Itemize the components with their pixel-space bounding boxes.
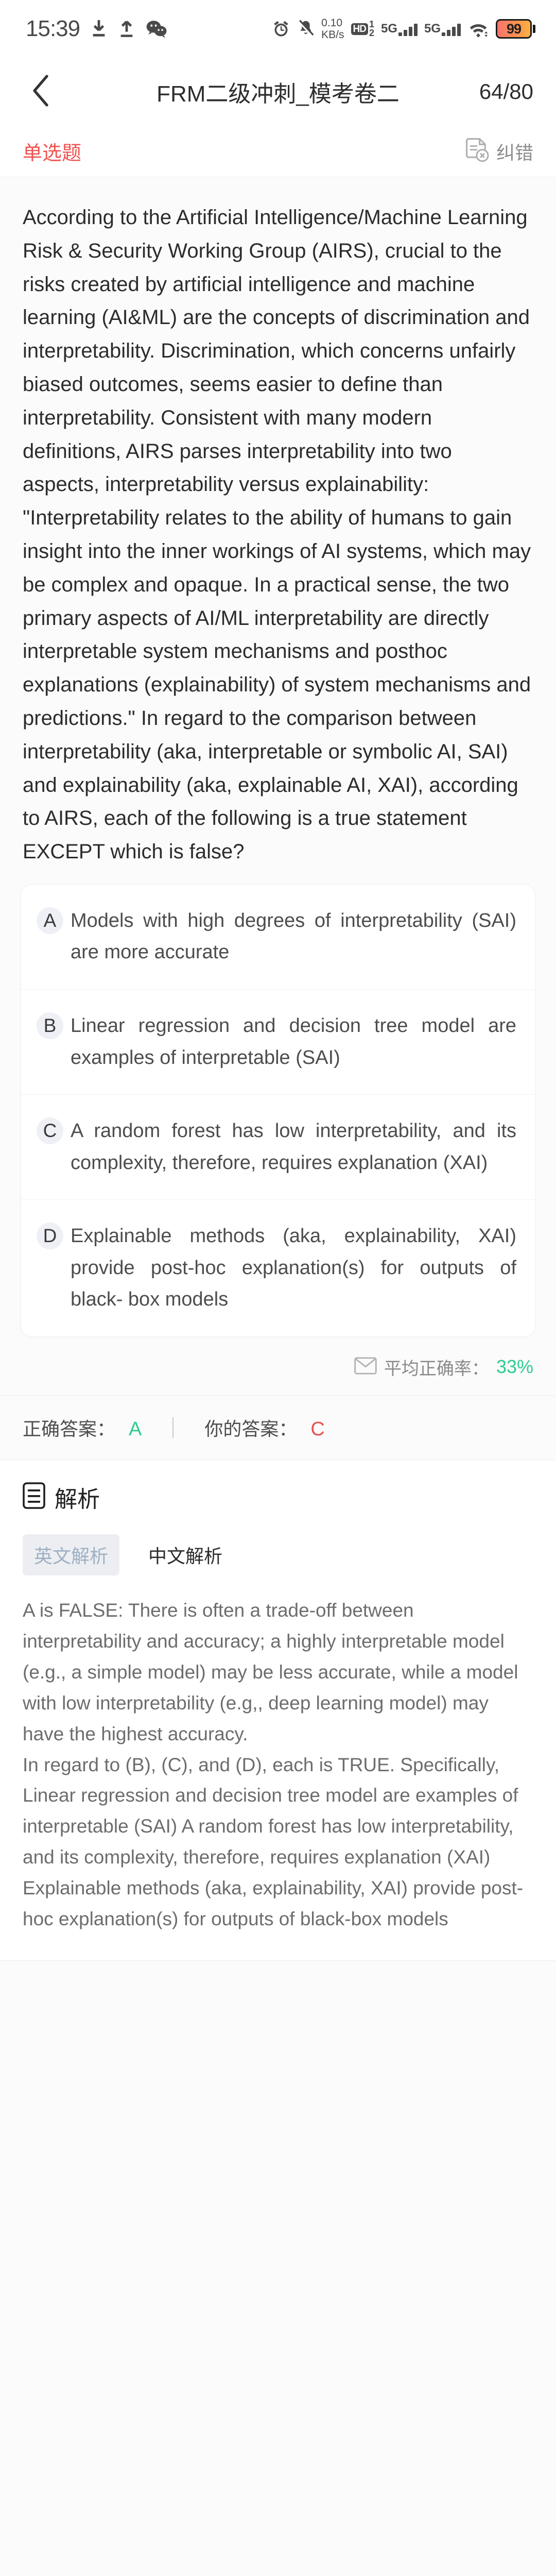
network-speed-value: 0.10: [321, 17, 342, 29]
option-letter-badge: B: [37, 1012, 63, 1039]
option-b[interactable]: BLinear regression and decision tree mod…: [21, 990, 535, 1095]
wifi-icon: [467, 20, 489, 38]
status-bar-left: 15:39: [26, 16, 167, 42]
app-header: FRM二级冲刺_模考卷二 64/80: [0, 58, 556, 126]
chevron-left-icon: [30, 74, 51, 110]
bottom-filler: [0, 1961, 556, 2576]
analysis-section: 解析 英文解析 中文解析 A is FALSE: There is often …: [0, 1460, 556, 1960]
question-type-label: 单选题: [23, 137, 81, 165]
option-text: Models with high degrees of interpretabi…: [71, 905, 516, 969]
battery-percent: 99: [507, 21, 521, 37]
option-c[interactable]: CA random forest has low interpretabilit…: [21, 1095, 535, 1200]
envelope-icon: [354, 1357, 377, 1377]
back-button[interactable]: [23, 74, 59, 110]
analysis-body-text: A is FALSE: There is often a trade-off b…: [23, 1595, 533, 1935]
correct-answer-label: 正确答案：: [23, 1414, 115, 1441]
options-section: AModels with high degrees of interpretab…: [0, 874, 556, 1337]
signal-sim1-icon: 5G: [381, 22, 418, 36]
download-arrow-icon: [90, 19, 108, 39]
answer-divider: [172, 1417, 173, 1438]
question-counter: 64/80: [479, 79, 533, 104]
battery-icon: 99: [496, 19, 535, 39]
analysis-title: 解析: [55, 1481, 100, 1514]
network-speed-unit: KB/s: [321, 29, 344, 41]
average-accuracy-label: 平均正确率：: [384, 1354, 489, 1380]
alarm-clock-icon: [272, 20, 290, 38]
hd-label: HD: [351, 23, 368, 35]
options-card: AModels with high degrees of interpretab…: [21, 884, 535, 1337]
option-letter-badge: D: [37, 1223, 63, 1249]
option-letter-badge: A: [37, 907, 63, 934]
signal-sim2-icon: 5G: [424, 22, 461, 36]
network-speed: 0.10 KB/s: [321, 17, 344, 41]
tab-chinese-analysis[interactable]: 中文解析: [137, 1534, 234, 1575]
your-answer-value: C: [310, 1418, 324, 1440]
option-d[interactable]: DExplainable methods (aka, explainabilit…: [21, 1200, 535, 1336]
hd-voice-icon: HD 1 2: [351, 20, 374, 38]
option-text: Explainable methods (aka, explainability…: [71, 1221, 516, 1316]
sim1-network-label: 5G: [381, 22, 397, 36]
upload-arrow-icon: [118, 19, 135, 39]
option-a[interactable]: AModels with high degrees of interpretab…: [21, 885, 535, 990]
hd-sim-bottom: 2: [369, 29, 374, 38]
option-text: Linear regression and decision tree mode…: [71, 1010, 516, 1074]
tab-english-analysis[interactable]: 英文解析: [23, 1534, 119, 1575]
report-error-icon: [465, 137, 490, 165]
status-bar-right: 0.10 KB/s HD 1 2 5G 5G: [272, 17, 535, 41]
your-answer-label: 你的答案：: [204, 1414, 297, 1441]
page-title: FRM二级冲刺_模考卷二: [0, 75, 556, 108]
question-text: According to the Artificial Intelligence…: [0, 177, 556, 874]
status-bar: 15:39: [0, 0, 556, 58]
question-scroll-area: According to the Artificial Intelligence…: [0, 177, 556, 2576]
correct-answer-group: 正确答案： A: [23, 1414, 142, 1441]
correct-answer-value: A: [129, 1418, 142, 1440]
status-time: 15:39: [26, 16, 80, 42]
sim2-network-label: 5G: [424, 22, 441, 36]
option-letter-badge: C: [37, 1117, 63, 1144]
answer-summary-row: 正确答案： A 你的答案： C: [0, 1395, 556, 1460]
question-type-bar: 单选题 纠错: [0, 126, 556, 177]
wechat-icon: [146, 20, 167, 38]
your-answer-group: 你的答案： C: [204, 1414, 324, 1441]
average-accuracy-value: 33%: [496, 1356, 533, 1378]
app-screen: 15:39: [0, 0, 556, 2576]
document-lines-icon: [23, 1482, 45, 1512]
bell-muted-icon: [297, 20, 315, 38]
report-error-button[interactable]: 纠错: [465, 137, 533, 165]
report-error-label: 纠错: [496, 138, 533, 165]
average-accuracy-row: 平均正确率： 33%: [0, 1337, 556, 1395]
analysis-header: 解析: [23, 1481, 533, 1514]
analysis-language-tabs: 英文解析 中文解析: [23, 1534, 533, 1575]
option-text: A random forest has low interpretability…: [71, 1115, 516, 1179]
